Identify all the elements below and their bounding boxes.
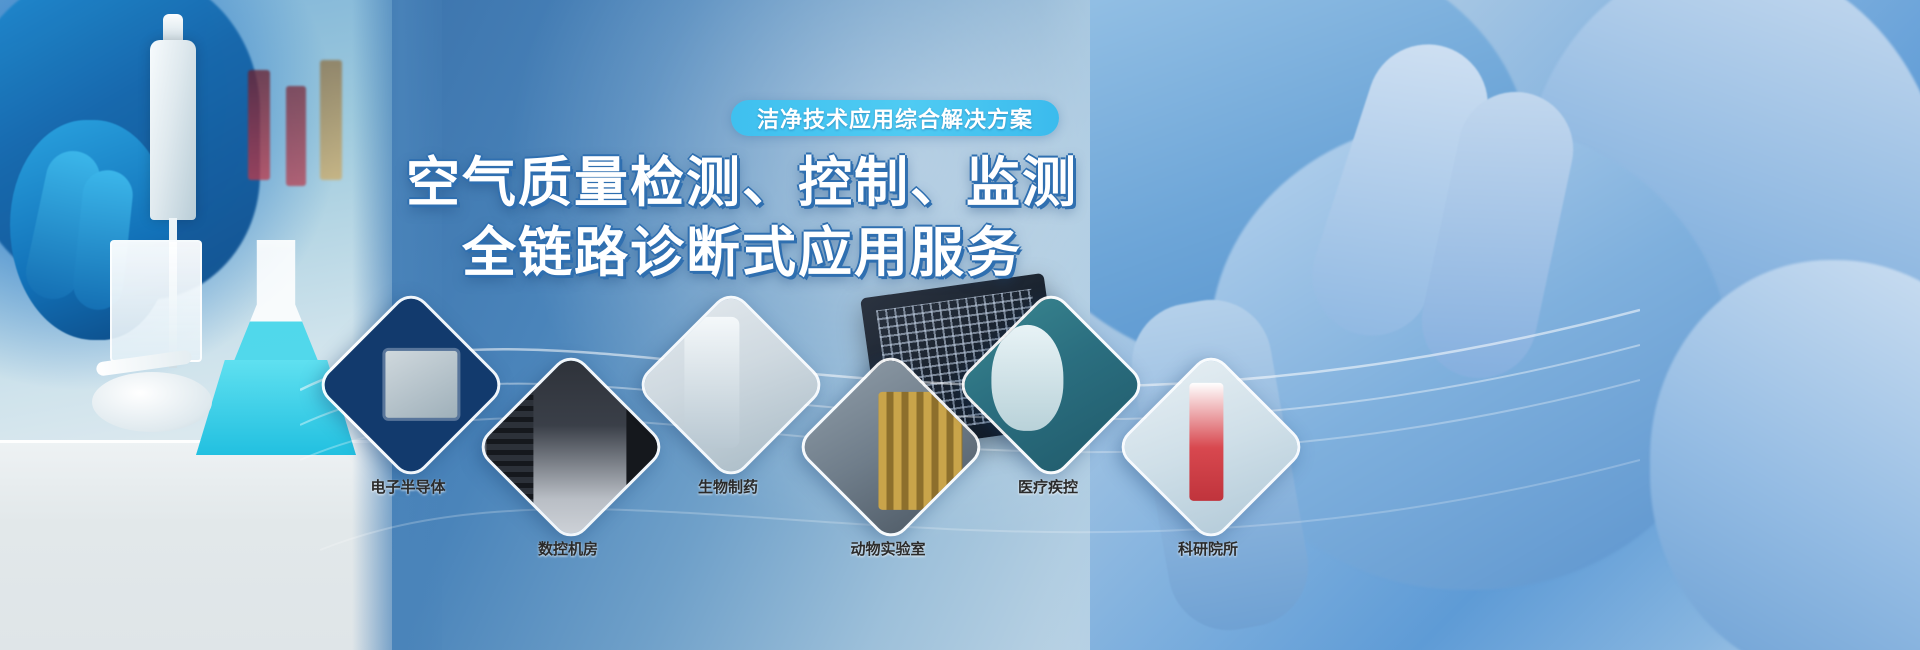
tile-label-research-institute: 科研院所 [1133, 538, 1283, 559]
industry-tile-group: 电子半导体 数控机房 生物制药 动物实验室 医疗疾控 科研院所 [290, 290, 1290, 520]
research-institute-icon [1113, 349, 1308, 544]
headline-line-1: 空气质量检测、控制、监测 [392, 148, 1092, 218]
hero-banner: 洁净技术应用综合解决方案 空气质量检测、控制、监测 全链路诊断式应用服务 电子半… [0, 0, 1920, 650]
tile-label-data-center: 数控机房 [493, 538, 643, 559]
test-tube-shape [286, 86, 306, 186]
animal-laboratory-icon [793, 349, 988, 544]
test-tube-shape [248, 70, 270, 180]
tile-label-medical-cdc: 医疗疾控 [973, 476, 1123, 497]
headline-line-2: 全链路诊断式应用服务 [392, 218, 1092, 288]
biopharma-lab-icon [633, 287, 828, 482]
tile-data-center[interactable] [473, 349, 668, 544]
test-tube-shape [320, 60, 342, 180]
data-center-icon [473, 349, 668, 544]
headline-badge-label: 洁净技术应用综合解决方案 [757, 102, 1033, 134]
tile-label-biopharma: 生物制药 [653, 476, 803, 497]
pipette-icon [150, 40, 196, 220]
tile-label-animal-laboratory: 动物实验室 [813, 538, 963, 559]
tile-research-institute[interactable] [1113, 349, 1308, 544]
tile-biopharma[interactable] [633, 287, 828, 482]
beaker-shape [110, 240, 202, 362]
petri-dish-shape [92, 372, 212, 432]
medical-cdc-icon [953, 287, 1148, 482]
tile-label-electronics-semiconductor: 电子半导体 [333, 476, 483, 497]
tile-medical-cdc[interactable] [953, 287, 1148, 482]
semiconductor-chip-icon [313, 287, 508, 482]
tile-animal-laboratory[interactable] [793, 349, 988, 544]
tile-electronics-semiconductor[interactable] [313, 287, 508, 482]
headline-badge: 洁净技术应用综合解决方案 [731, 100, 1059, 136]
page-title: 空气质量检测、控制、监测 全链路诊断式应用服务 [392, 148, 1092, 288]
